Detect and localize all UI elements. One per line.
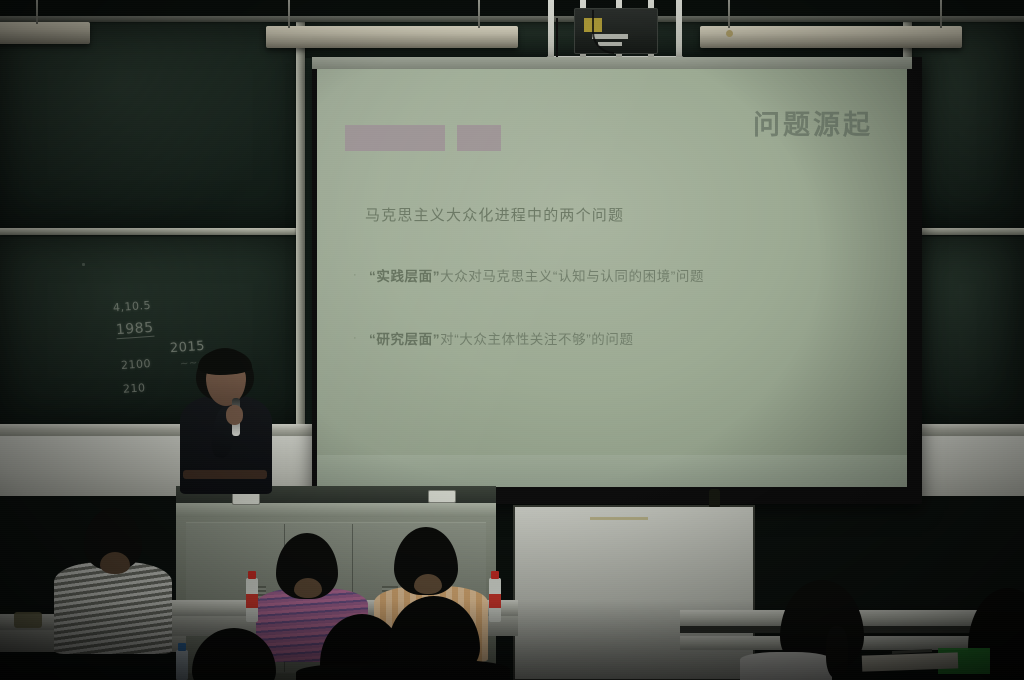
water-bottle-1 <box>246 578 258 622</box>
student-1-item <box>14 612 42 628</box>
blackboard-rail-horizontal-right <box>910 228 1024 235</box>
cage-bar-5 <box>676 0 682 64</box>
bottle-label <box>489 594 501 608</box>
bullet-2-rest: 对“大众主体性关注不够”的问题 <box>440 332 634 347</box>
hanger-rod-4 <box>728 0 730 28</box>
blackboard-panel-right-upper <box>912 22 1024 228</box>
slide-bullet-list: · “实践层面”大众对马克思主义“认知与认同的困境”问题 · “研究层面”对“大… <box>353 267 873 393</box>
water-bottle-2 <box>489 578 501 622</box>
light-valance-left <box>0 22 90 44</box>
student-2-neck <box>294 578 322 598</box>
student-1-torso <box>54 562 172 654</box>
bottle-cap <box>178 643 186 651</box>
bullet-2-text: “研究层面”对“大众主体性关注不够”的问题 <box>369 330 634 351</box>
bottle-label <box>246 594 258 608</box>
hanger-rod-5 <box>940 0 942 28</box>
slide-bullet-2: · “研究层面”对“大众主体性关注不够”的问题 <box>353 330 873 351</box>
desk-papers <box>862 652 958 671</box>
water-bottle-3 <box>176 650 188 680</box>
student-7-ponytail <box>826 626 848 678</box>
slide-decor-bar-small <box>457 125 501 151</box>
console-lip <box>176 503 496 517</box>
slide-title: 问题源起 <box>753 103 873 142</box>
bullet-1-bold: “实践层面” <box>369 269 440 284</box>
projection-screen-roller <box>312 57 912 69</box>
speaker-hand <box>226 405 243 425</box>
slide-bullet-1: · “实践层面”大众对马克思主义“认知与认同的困境”问题 <box>353 267 873 288</box>
student-1-neck <box>100 552 130 574</box>
student-6-torso <box>360 660 510 680</box>
blackboard-rail-top <box>0 16 1024 22</box>
chalk-note-4: 2100 <box>121 357 152 372</box>
student-7-torso <box>740 652 832 680</box>
whiteboard-marking <box>590 517 648 520</box>
whiteboard-clip <box>709 489 720 507</box>
speaker-belt <box>183 470 267 479</box>
hanger-rod-1 <box>36 0 38 24</box>
blackboard-rail-vertical-left <box>296 22 305 430</box>
slide-subtitle: 马克思主义大众化进程中的两个问题 <box>365 204 624 225</box>
slide-decor-bar-wide <box>345 125 445 151</box>
light-valance-center <box>266 26 518 48</box>
whiteboard-panel <box>513 505 755 680</box>
console-latch-right <box>428 490 456 503</box>
cage-bar-1 <box>548 0 554 64</box>
bottle-cap <box>491 571 499 579</box>
bottle-cap <box>248 571 256 579</box>
chalk-note-1: 4,10.5 <box>113 299 152 315</box>
bullet-1-text: “实践层面”大众对马克思主义“认知与认同的困境”问题 <box>369 267 704 288</box>
projection-screen: 问题源起 马克思主义大众化进程中的两个问题 · “实践层面”大众对马克思主义“认… <box>317 69 907 487</box>
chalk-note-3: 2015 <box>170 339 206 356</box>
bullet-1-rest: 大众对马克思主义“认知与认同的困境”问题 <box>440 269 704 284</box>
blackboard-panel-right-lower <box>912 236 1024 426</box>
chalk-note-5: 210 <box>123 381 146 396</box>
bullet-2-bold: “研究层面” <box>369 332 440 347</box>
classroom-photo: 4,10.5 1985 2015 2100 210 ~~~ 问题源起 马克思主义… <box>0 0 1024 680</box>
student-3-neck <box>414 574 442 594</box>
bullet-marker-icon: · <box>353 267 369 288</box>
light-valance-right <box>700 26 962 48</box>
blackboard-panel-left-upper <box>0 22 300 228</box>
screen-lower-shadow <box>317 455 907 487</box>
blackboard-rail-horizontal-left <box>0 228 302 235</box>
ceiling-fixture-knob <box>726 30 733 37</box>
chalk-speck-1 <box>82 263 85 266</box>
bullet-marker-icon: · <box>353 330 369 351</box>
hanger-rod-2 <box>288 0 290 28</box>
chalk-note-2: 1985 <box>115 320 154 340</box>
hanger-rod-3 <box>478 0 480 28</box>
